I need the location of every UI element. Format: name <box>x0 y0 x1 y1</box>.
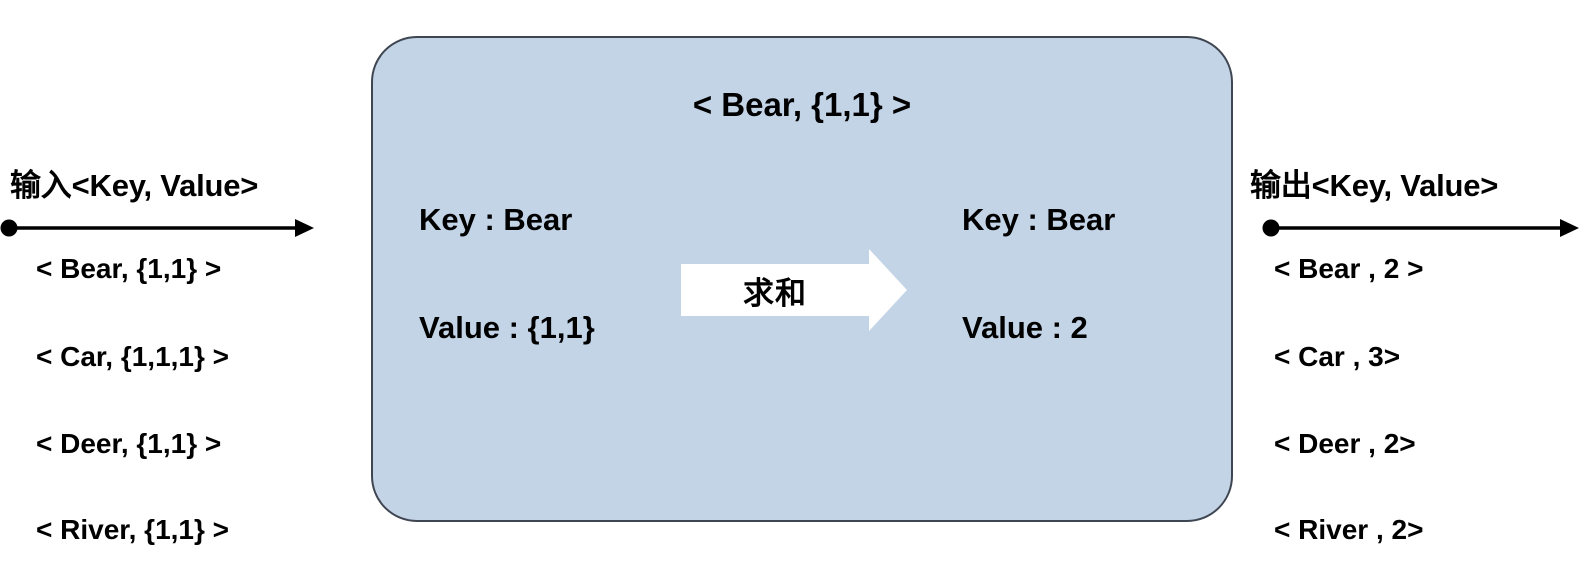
output-item-0: < Bear , 2 > <box>1274 253 1423 285</box>
input-item-1: < Car, {1,1,1} > <box>36 341 229 373</box>
input-item-2: < Deer, {1,1} > <box>36 428 221 460</box>
input-item-3: < River, {1,1} > <box>36 514 229 546</box>
output-header: 输出<Key, Value> <box>1250 160 1498 205</box>
diagram-canvas: 输入<Key, Value> < Bear, {1,1} > < Car, {1… <box>0 0 1594 572</box>
output-flow-arrow <box>1262 213 1582 243</box>
reduce-output-pair: Key : Bear Value : 2 <box>962 202 1115 346</box>
output-item-3: < River , 2> <box>1274 514 1423 546</box>
input-item-0: < Bear, {1,1} > <box>36 253 221 285</box>
sum-operation-arrow: 求和 <box>681 249 907 331</box>
reduce-output-value: Value : 2 <box>962 310 1115 346</box>
reduce-output-key: Key : Bear <box>962 202 1115 238</box>
reduce-input-value: Value : {1,1} <box>419 310 595 346</box>
reduce-box-title: < Bear, {1,1} > <box>373 86 1231 124</box>
input-flow-arrow <box>0 213 320 243</box>
reduce-input-pair: Key : Bear Value : {1,1} <box>419 202 595 346</box>
input-header: 输入<Key, Value> <box>10 160 258 205</box>
reduce-input-key: Key : Bear <box>419 202 595 238</box>
output-item-1: < Car , 3> <box>1274 341 1400 373</box>
output-item-2: < Deer , 2> <box>1274 428 1416 460</box>
sum-operation-label: 求和 <box>681 249 869 331</box>
